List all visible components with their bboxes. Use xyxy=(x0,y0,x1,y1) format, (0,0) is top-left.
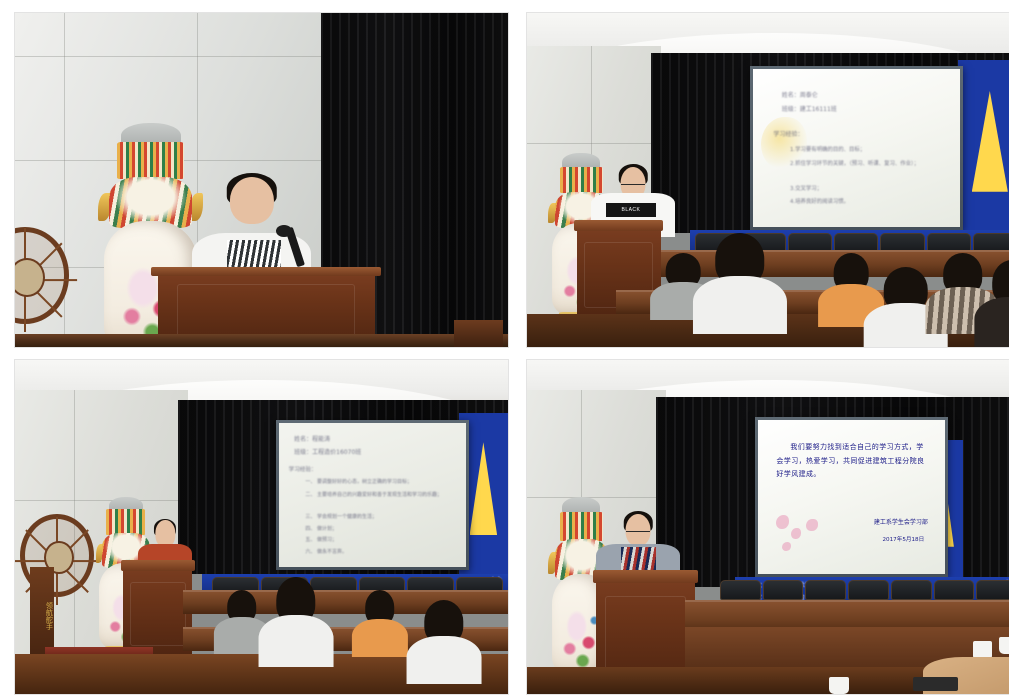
slide-class-line: 班级：建工16111班 xyxy=(782,106,837,115)
slide-bullet-1: 一、 要调整好好的心态，树立正确的学习目标； xyxy=(305,479,412,486)
slide-date: 2017年5月18日 xyxy=(882,536,924,544)
petal-decor xyxy=(776,515,789,529)
paper-cup xyxy=(829,677,849,694)
audience-member xyxy=(992,260,1009,347)
paper-cup xyxy=(999,637,1009,654)
wall-seam xyxy=(527,143,661,144)
photo-top-left[interactable] xyxy=(14,12,509,348)
audience-member xyxy=(715,233,765,333)
slide-heading: 学习经验： xyxy=(289,466,317,474)
slide-class-line: 班级：工程造价16070班 xyxy=(294,449,361,458)
photo-grid: 姓名：周泰仑 班级：建工16111班 学习经验： 1.学习要有明确的目的、目标；… xyxy=(0,0,1009,672)
foreground-device xyxy=(913,677,958,690)
photo-top-left-content xyxy=(15,13,508,347)
stage-seat-row xyxy=(720,580,1009,600)
petal-decor xyxy=(791,528,800,539)
projection-screen: 我们要努力找到适合自己的学习方式，学会学习，热爱学习，共同促进建筑工程分院良好学… xyxy=(758,420,945,574)
backdrop-logo xyxy=(958,60,1009,234)
slide-name-line: 姓名：周泰仑 xyxy=(782,92,818,101)
slide-bullet-4: 四、 做计划； xyxy=(305,526,337,533)
slide-signature: 建工系学生会学习部 xyxy=(874,519,928,528)
photo-top-right[interactable]: 姓名：周泰仑 班级：建工16111班 学习经验： 1.学习要有明确的目的、目标；… xyxy=(526,12,1009,348)
projection-screen-frame: 我们要努力找到适合自己的学习方式，学会学习，热爱学习，共同促进建筑工程分院良好学… xyxy=(755,417,948,577)
photo-bottom-left-content: 姓名：程能涛 班级：工程造价16070班 学习经验： 一、 要调整好好的心态，树… xyxy=(15,360,508,694)
slide-bullet-1: 1.学习要有明确的目的、目标； xyxy=(790,147,865,155)
tshirt-logo: BLACK xyxy=(606,203,656,216)
slide-bullet-6: 六、 做永不言弃。 xyxy=(305,549,347,556)
slide-body-text: 我们要努力找到适合自己的学习方式，学会学习，热爱学习，共同促进建筑工程分院良好学… xyxy=(776,441,929,481)
wall-seam xyxy=(15,56,321,57)
side-chair xyxy=(454,320,503,347)
audience-member xyxy=(365,590,395,657)
audience-member xyxy=(424,600,463,684)
photo-bottom-right-content: 我们要努力找到适合自己的学习方式，学会学习，热爱学习，共同促进建筑工程分院良好学… xyxy=(527,360,1009,694)
audience-member xyxy=(227,590,257,653)
projection-screen: 姓名：程能涛 班级：工程造价16070班 学习经验： 一、 要调整好好的心态，树… xyxy=(279,423,465,567)
photo-bottom-right[interactable]: 我们要努力找到适合自己的学习方式，学会学习，热爱学习，共同促进建筑工程分院良好学… xyxy=(526,359,1009,695)
slide-bullet-3: 3.交叉学习； xyxy=(790,186,822,194)
slide-name-line: 姓名：程能涛 xyxy=(294,436,330,445)
petal-decor xyxy=(782,542,791,551)
projection-screen-frame: 姓名：周泰仑 班级：建工16111班 学习经验： 1.学习要有明确的目的、目标；… xyxy=(750,66,963,230)
projection-screen-frame: 姓名：程能涛 班级：工程造价16070班 学习经验： 一、 要调整好好的心态，树… xyxy=(276,420,468,570)
audience-member xyxy=(883,267,928,347)
slide-bullet-2: 2.抓住学习环节的关键，（预习、听课、复习、作业）； xyxy=(790,161,922,169)
slide-bullet-3: 三、 学会规划一个健康的生活； xyxy=(305,514,377,521)
petal-decor xyxy=(806,519,817,531)
audience-member xyxy=(276,577,315,667)
photo-top-right-content: 姓名：周泰仑 班级：建工16111班 学习经验： 1.学习要有明确的目的、目标；… xyxy=(527,13,1009,347)
slide-bullet-4: 4.培养良好的阅读习惯。 xyxy=(790,199,849,207)
photo-bottom-left[interactable]: 姓名：程能涛 班级：工程造价16070班 学习经验： 一、 要调整好好的心态，树… xyxy=(14,359,509,695)
slide-bullet-2: 二、 主要培养自己的兴趣爱好和善于发现生活和学习的乐趣； xyxy=(305,492,447,499)
floor xyxy=(15,334,508,347)
audience-member xyxy=(834,253,869,326)
slide-heading: 学习经验： xyxy=(773,131,803,140)
projection-screen: 姓名：周泰仑 班级：建工16111班 学习经验： 1.学习要有明确的目的、目标；… xyxy=(753,69,960,227)
slide-bullet-5: 五、 做预习； xyxy=(305,537,337,544)
